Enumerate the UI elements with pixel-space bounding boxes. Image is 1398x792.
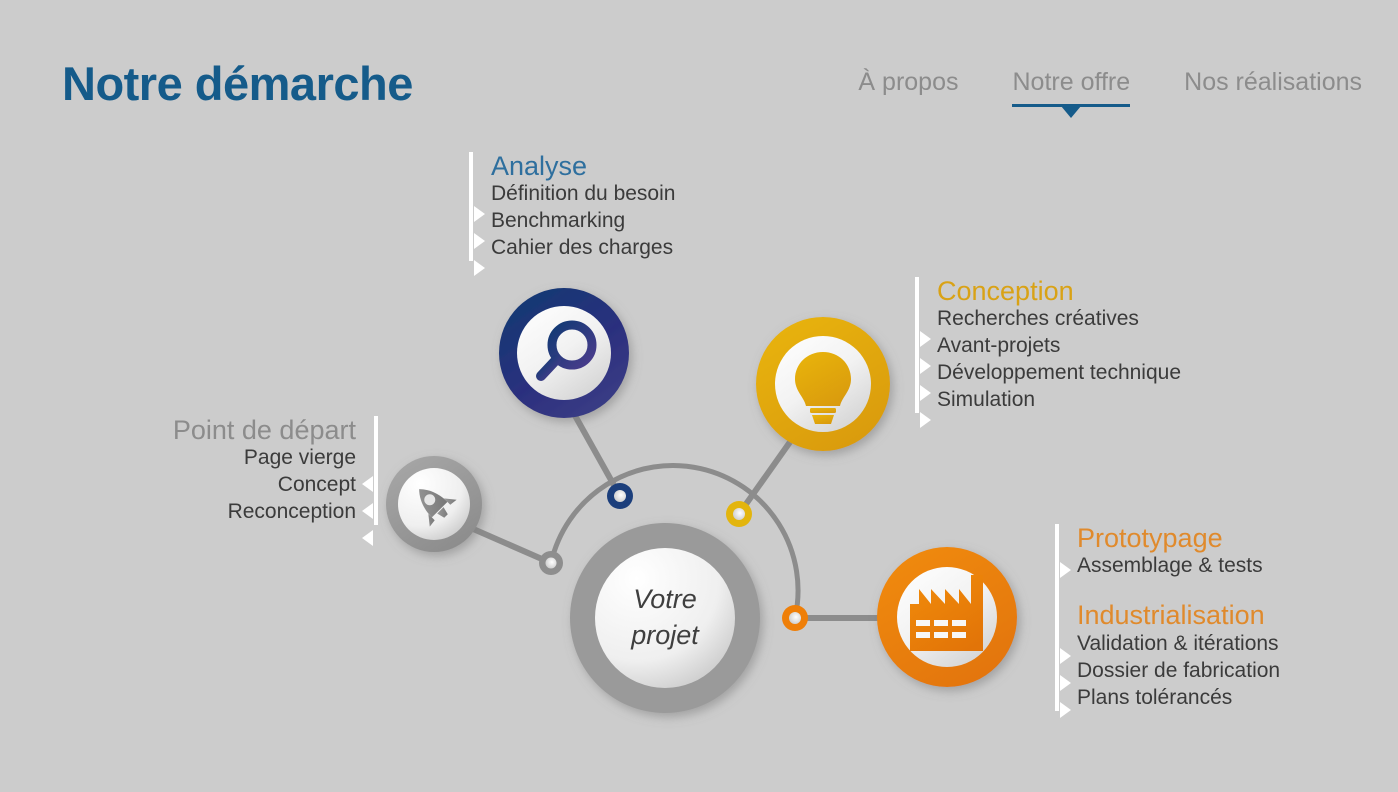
rail-depart bbox=[374, 416, 378, 525]
chevron-right-icon bbox=[474, 260, 485, 276]
list-item: Page vierge bbox=[120, 444, 356, 471]
chevron-right-icon bbox=[1060, 562, 1071, 578]
list-item: Reconception bbox=[120, 498, 356, 525]
chevron-right-icon bbox=[1060, 702, 1071, 718]
block-list-conception: Recherches créatives Avant-projets Dével… bbox=[937, 305, 1181, 413]
center-label-line1: Votre bbox=[633, 584, 697, 614]
arc-node-analyse[interactable] bbox=[607, 483, 633, 509]
center-node[interactable] bbox=[570, 523, 760, 713]
block-list-analyse: Définition du besoin Benchmarking Cahier… bbox=[491, 180, 675, 261]
chevron-right-icon bbox=[474, 206, 485, 222]
block-heading-industrialisation: Industrialisation bbox=[1077, 601, 1280, 629]
block-list-industrialisation: Validation & itérations Dossier de fabri… bbox=[1077, 630, 1280, 711]
block-list-prototypage: Assemblage & tests bbox=[1077, 552, 1280, 579]
block-heading-conception: Conception bbox=[937, 277, 1181, 305]
arc-node-industrialisation[interactable] bbox=[782, 605, 808, 631]
slide-canvas: Notre démarche À propos Notre offre Nos … bbox=[0, 0, 1398, 792]
list-item: Benchmarking bbox=[491, 207, 675, 234]
list-item: Simulation bbox=[937, 386, 1181, 413]
chevron-right-icon bbox=[1060, 648, 1071, 664]
chevron-right-icon bbox=[920, 412, 931, 428]
block-spacer bbox=[1077, 579, 1280, 601]
chevron-left-icon bbox=[362, 503, 373, 519]
list-item: Avant-projets bbox=[937, 332, 1181, 359]
block-conception: Conception Recherches créatives Avant-pr… bbox=[915, 277, 1181, 413]
block-list-depart: Page vierge Concept Reconception bbox=[120, 444, 356, 525]
list-item: Développement technique bbox=[937, 359, 1181, 386]
chevron-left-icon bbox=[362, 476, 373, 492]
chevron-left-icon bbox=[362, 530, 373, 546]
chevron-right-icon bbox=[920, 331, 931, 347]
rail-conception bbox=[915, 277, 919, 413]
node-conception[interactable] bbox=[756, 317, 890, 451]
center-label-line2: projet bbox=[630, 620, 700, 650]
block-heading-analyse: Analyse bbox=[491, 152, 675, 180]
list-item: Concept bbox=[120, 471, 356, 498]
chevron-right-icon bbox=[920, 358, 931, 374]
list-item: Plans tolérancés bbox=[1077, 684, 1280, 711]
chevron-right-icon bbox=[474, 233, 485, 249]
list-item: Dossier de fabrication bbox=[1077, 657, 1280, 684]
chevron-right-icon bbox=[1060, 675, 1071, 691]
arc-node-depart[interactable] bbox=[539, 551, 563, 575]
list-item: Validation & itérations bbox=[1077, 630, 1280, 657]
node-depart[interactable] bbox=[386, 456, 482, 552]
block-point-de-depart: Point de départ Page vierge Concept Reco… bbox=[120, 416, 378, 525]
block-analyse: Analyse Définition du besoin Benchmarkin… bbox=[469, 152, 675, 261]
block-heading-prototypage: Prototypage bbox=[1077, 524, 1280, 552]
list-item: Définition du besoin bbox=[491, 180, 675, 207]
block-prototypage-industrialisation: Prototypage Assemblage & tests Industria… bbox=[1055, 524, 1280, 711]
list-item: Recherches créatives bbox=[937, 305, 1181, 332]
list-item: Assemblage & tests bbox=[1077, 552, 1280, 579]
list-item: Cahier des charges bbox=[491, 234, 675, 261]
rail-analyse bbox=[469, 152, 473, 261]
rail-prototypage bbox=[1055, 524, 1059, 711]
block-heading-depart: Point de départ bbox=[120, 416, 356, 444]
arc-node-conception[interactable] bbox=[726, 501, 752, 527]
node-analyse[interactable] bbox=[499, 288, 629, 418]
chevron-right-icon bbox=[920, 385, 931, 401]
node-industrialisation[interactable] bbox=[877, 547, 1017, 687]
